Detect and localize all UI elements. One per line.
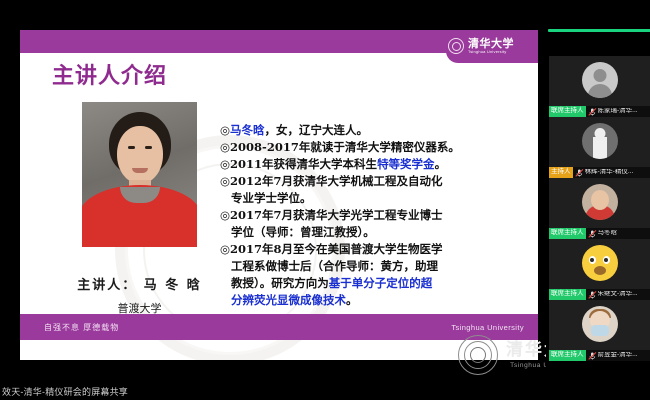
tsinghua-seal-icon [448, 38, 464, 54]
slide-bullet-list: ◎马冬晗，女，辽宁大连人。◎2008-2017年就读于清华大学精密仪器系。◎20… [220, 122, 538, 309]
bullet-highlight-text: 特等奖学金 [377, 157, 435, 171]
bullet-marker-icon: ◎ [220, 157, 230, 171]
person-placeholder-icon [582, 62, 618, 98]
slide-title: 主讲人介绍 [52, 58, 167, 90]
bullet-highlight-text: 分辨荧光显微成像技术 [231, 293, 346, 307]
participant-video-strip[interactable]: 联席主持人陈家瑞-清华...主持人林辉-清华-精仪...联席主持人马冬晗联席主持… [546, 0, 650, 400]
slide-bullet-line: ◎2008-2017年就读于清华大学精密仪器系。 [220, 139, 538, 156]
woman-photo-icon [582, 184, 618, 220]
participant-tile[interactable]: 联席主持人朱继文-清华... [549, 239, 650, 300]
participant-tile[interactable]: 联席主持人陈家瑞-清华... [549, 56, 650, 117]
active-speaker-indicator [548, 29, 650, 32]
bullet-highlight-text: 基于单分子定位的超 [329, 276, 433, 290]
mic-muted-icon [588, 228, 597, 239]
slide-bullet-line: ◎马冬晗，女，辽宁大连人。 [220, 122, 538, 139]
tsinghua-seal-icon [458, 335, 498, 375]
bullet-text: 教授）。研究方向为 [231, 276, 329, 290]
slide-header-logo: 清华大学 Tsinghua University [448, 33, 532, 59]
participant-tile[interactable]: 联席主持人俞昱金-清华... [549, 300, 650, 361]
bullet-highlight-text: 马冬晗 [230, 123, 265, 137]
slide-footer-en: Tsinghua University [451, 323, 524, 332]
slide-footer-motto: 自强不息 厚德载物 [44, 322, 119, 333]
bullet-text: 工程系做博士后（合作导师：黄方，助理 [231, 259, 438, 273]
bullet-marker-icon: ◎ [220, 140, 230, 154]
participant-name: 马冬晗 [598, 230, 620, 237]
participant-role-badge: 联席主持人 [549, 228, 586, 239]
bullet-marker-icon: ◎ [220, 174, 230, 188]
bullet-text: 。 [435, 157, 447, 171]
slide-bullet-line: ◎2017年7月获清华大学光学工程专业博士 [220, 207, 538, 224]
bullet-text: 2017年8月至今在美国普渡大学生物医学 [230, 242, 443, 256]
participant-name: 俞昱金-清华... [598, 352, 640, 359]
participant-name-bar: 联席主持人陈家瑞-清华... [549, 106, 650, 117]
participant-name-bar: 联席主持人朱继文-清华... [549, 289, 650, 300]
bullet-text: ，女，辽宁大连人。 [265, 123, 369, 137]
mic-muted-icon [588, 350, 597, 361]
gray-photo-icon [582, 123, 618, 159]
slide-bullet-line: 分辨荧光显微成像技术。 [220, 292, 538, 309]
bullet-marker-icon: ◎ [220, 242, 230, 256]
slide-logo-cn: 清华大学 [468, 38, 514, 49]
slide-bullet-line: 专业学士学位。 [220, 190, 538, 207]
speaker-photo [82, 102, 197, 247]
mic-muted-icon [588, 106, 597, 117]
slide-bullet-line: ◎2011年获得清华大学本科生特等奖学金。 [220, 156, 538, 173]
mic-muted-icon [588, 289, 597, 300]
participant-role-badge: 联席主持人 [549, 350, 586, 361]
bullet-text: 学位（导师：曾理江教授）。 [231, 225, 375, 239]
bullet-marker-icon: ◎ [220, 208, 230, 222]
bullet-text: 2008-2017年就读于清华大学精密仪器系。 [230, 140, 460, 154]
slide-bullet-line: 学位（导师：曾理江教授）。 [220, 224, 538, 241]
zoom-meeting-window: 清华大学 Tsinghua University 主讲人介绍 主讲人： 马 冬 … [0, 0, 650, 400]
participant-name-bar: 主持人林辉-清华-精仪... [549, 167, 650, 178]
participant-name: 陈家瑞-清华... [598, 108, 640, 115]
slide-bullet-line: 教授）。研究方向为基于单分子定位的超 [220, 275, 538, 292]
presentation-slide: 清华大学 Tsinghua University 主讲人介绍 主讲人： 马 冬 … [20, 30, 538, 360]
participant-name: 林辉-清华-精仪... [585, 169, 636, 176]
participant-role-badge: 联席主持人 [549, 289, 586, 300]
bullet-text: 专业学士学位。 [231, 191, 312, 205]
slide-bullet-line: ◎2017年8月至今在美国普渡大学生物医学 [220, 241, 538, 258]
participant-tile[interactable]: 主持人林辉-清华-精仪... [549, 117, 650, 178]
slide-bullet-line: ◎2012年7月获清华大学机械工程及自动化 [220, 173, 538, 190]
slide-bullet-line: 工程系做博士后（合作导师：黄方，助理 [220, 258, 538, 275]
participant-name-bar: 联席主持人马冬晗 [549, 228, 650, 239]
participant-role-badge: 主持人 [549, 167, 573, 178]
bullet-text: 。 [346, 293, 358, 307]
emoji-avatar-icon [582, 245, 618, 281]
bullet-text: 2012年7月获清华大学机械工程及自动化 [230, 174, 443, 188]
bullet-text: 2017年7月获清华大学光学工程专业博士 [230, 208, 443, 222]
participant-role-badge: 联席主持人 [549, 106, 586, 117]
slide-logo-en: Tsinghua University [468, 50, 514, 54]
bullet-text: 2011年获得清华大学本科生 [230, 157, 377, 171]
bullet-marker-icon: ◎ [220, 123, 230, 137]
speaker-name-caption: 主讲人： 马 冬 晗 [42, 274, 237, 293]
participant-tile[interactable]: 联席主持人马冬晗 [549, 178, 650, 239]
participant-name-bar: 联席主持人俞昱金-清华... [549, 350, 650, 361]
mic-muted-icon [575, 167, 584, 178]
baby-photo-icon [582, 306, 618, 342]
participant-name: 朱继文-清华... [598, 291, 640, 298]
